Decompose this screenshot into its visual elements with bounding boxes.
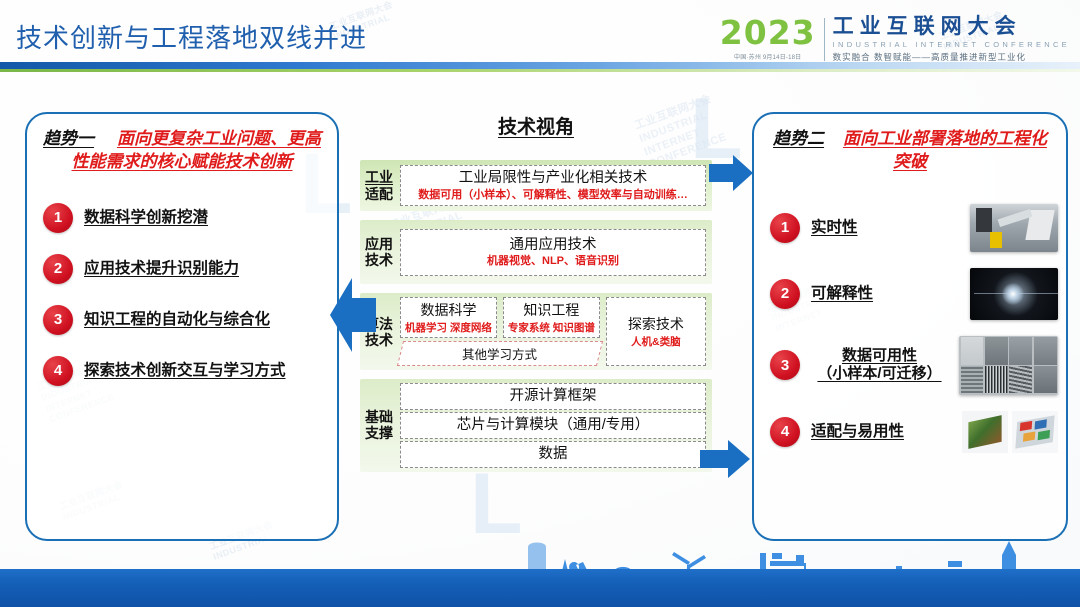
bullet-number: 1	[43, 203, 73, 233]
algorithm-cells: 数据科学 机器学习 深度网络 知识工程 专家系统 知识图谱	[400, 297, 600, 338]
bullet-number: 2	[770, 279, 800, 309]
row-label-line1: 基础	[365, 409, 393, 425]
bullet-text: 探索技术创新交互与学习方式	[84, 361, 286, 380]
row-label-line2: 适配	[365, 186, 393, 202]
row-body-application-tech: 通用应用技术 机器视觉、NLP、语音识别	[398, 220, 712, 284]
skyline-icon	[0, 535, 1080, 607]
bullet-text: 适配与易用性	[811, 422, 951, 441]
stack-row-foundation: 基础 支撑 开源计算框架 芯片与计算模块（通用/专用） 数据	[360, 379, 712, 472]
stack-row-application-tech: 应用 技术 通用应用技术 机器视觉、NLP、语音识别	[360, 220, 712, 284]
logo-divider	[824, 18, 825, 61]
header-rule-green	[0, 69, 1080, 72]
chip-pair-photo	[962, 411, 1058, 453]
trend-one-text: 面向更复杂工业问题、更高性能需求的核心赋能技术创新	[72, 129, 321, 171]
trend-two-list: 1 实时性 2 可解释性 3 数据可用性 （小样本/可迁移） 4 适配与易用性	[754, 200, 1066, 457]
bullet-number: 2	[43, 254, 73, 284]
row-box[interactable]: 工业局限性与产业化相关技术 数据可用（小样本）、可解释性、模型效率与自动训练…	[400, 165, 706, 206]
bullet-text: 实时性	[811, 218, 959, 237]
row-box-title: 工业局限性与产业化相关技术	[405, 169, 701, 188]
bullet-number: 4	[770, 417, 800, 447]
logo-year: 2023	[720, 16, 816, 49]
cell-title: 数据科学	[405, 300, 492, 320]
trend-two-panel: 趋势二 面向工业部署落地的工程化突破 1 实时性 2 可解释性 3 数据可用性 …	[752, 112, 1068, 541]
bullet-number: 3	[43, 305, 73, 335]
cell-detail: 机器学习 深度网络	[405, 320, 492, 335]
arrow-left-icon	[330, 272, 376, 358]
algorithm-cell-data-science[interactable]: 数据科学 机器学习 深度网络	[400, 297, 497, 338]
bullet-number: 3	[770, 350, 800, 380]
trend-one-panel: 趋势一 面向更复杂工业问题、更高性能需求的核心赋能技术创新 1 数据科学创新挖潜…	[25, 112, 339, 541]
foundation-box-framework[interactable]: 开源计算框架	[400, 383, 706, 410]
center-title: 技术视角	[360, 112, 712, 139]
arrow-right-top-icon	[709, 152, 753, 194]
list-item[interactable]: 4 适配与易用性	[754, 407, 1066, 457]
stack-row-algorithm-tech: 算法 技术 数据科学 机器学习 深度网络 知识工程 专家系统 知识图谱	[360, 293, 712, 370]
row-label-line2: 支撑	[365, 425, 393, 441]
list-item[interactable]: 4 探索技术创新交互与学习方式	[27, 349, 337, 393]
algorithm-cell-knowledge-eng[interactable]: 知识工程 专家系统 知识图谱	[503, 297, 600, 338]
dark-explain-photo	[970, 268, 1058, 320]
foundation-text: 数据	[405, 445, 701, 464]
trend-one-list: 1 数据科学创新挖潜 2 应用技术提升识别能力 3 知识工程的自动化与综合化 4…	[27, 196, 337, 393]
row-box-detail: 机器视觉、NLP、语音识别	[405, 254, 701, 268]
cell-detail: 专家系统 知识图谱	[508, 320, 595, 335]
logo-year-block: 2023 中国·苏州 9月14日-18日	[720, 16, 824, 61]
logo-date: 中国·苏州 9月14日-18日	[734, 52, 801, 61]
list-item[interactable]: 2 可解释性	[754, 264, 1066, 332]
technology-stack: 工业 适配 工业局限性与产业化相关技术 数据可用（小样本）、可解释性、模型效率与…	[360, 160, 712, 481]
foundation-text: 芯片与计算模块（通用/专用）	[405, 416, 701, 435]
bottom-band	[0, 569, 1080, 607]
list-item[interactable]: 3 知识工程的自动化与综合化	[27, 298, 337, 349]
row-label-line1: 工业	[365, 169, 393, 185]
bullet-text: 数据可用性 （小样本/可迁移）	[811, 347, 948, 385]
cell-title: 探索技术	[611, 314, 701, 334]
trend-two-label: 趋势二	[773, 129, 824, 148]
algorithm-left-group: 数据科学 机器学习 深度网络 知识工程 专家系统 知识图谱 其他学习方式	[400, 297, 600, 366]
logo-slogan: 数实融合 数智赋能——高质量推进新型工业化	[833, 51, 1070, 63]
row-box[interactable]: 通用应用技术 机器视觉、NLP、语音识别	[400, 229, 706, 276]
row-body-foundation: 开源计算框架 芯片与计算模块（通用/专用） 数据	[398, 379, 712, 472]
logo-name-cn: 工业互联网大会	[833, 16, 1070, 38]
row-label-foundation: 基础 支撑	[360, 379, 398, 472]
arrow-right-bottom-icon	[700, 437, 750, 481]
algorithm-cell-exploratory[interactable]: 探索技术 人机&类脑	[606, 297, 706, 366]
trend-one-heading: 趋势一 面向更复杂工业问题、更高性能需求的核心赋能技术创新	[27, 114, 337, 178]
other-label: 其他学习方式	[462, 344, 537, 363]
cell-detail: 人机&类脑	[611, 334, 701, 349]
row-body-algorithm-tech: 数据科学 机器学习 深度网络 知识工程 专家系统 知识图谱 其他学习方式 探索技…	[398, 293, 712, 370]
bullet-text: 数据科学创新挖潜	[84, 208, 208, 227]
list-item[interactable]: 1 实时性	[754, 200, 1066, 264]
list-item[interactable]: 2 应用技术提升识别能力	[27, 247, 337, 298]
page-title: 技术创新与工程落地双线并进	[16, 18, 367, 55]
robot-arm-photo	[970, 204, 1058, 252]
row-label-line2: 技术	[365, 252, 393, 268]
cell-title: 知识工程	[508, 300, 595, 320]
list-item[interactable]: 3 数据可用性 （小样本/可迁移）	[754, 332, 1066, 407]
foundation-text: 开源计算框架	[405, 387, 701, 406]
stack-row-industry-fit: 工业 适配 工业局限性与产业化相关技术 数据可用（小样本）、可解释性、模型效率与…	[360, 160, 712, 211]
bullet-text: 可解释性	[811, 284, 959, 303]
bullet-number: 1	[770, 213, 800, 243]
bullet-text: 应用技术提升识别能力	[84, 259, 239, 278]
skyline-decoration	[0, 535, 1080, 607]
trend-two-text: 面向工业部署落地的工程化突破	[843, 129, 1047, 171]
row-box-title: 通用应用技术	[405, 236, 701, 255]
row-label-industry-fit: 工业 适配	[360, 160, 398, 211]
slide-root: L L L 工业互联网大会 INDUSTRIAL INTERNET CONFER…	[0, 0, 1080, 607]
list-item[interactable]: 1 数据科学创新挖潜	[27, 196, 337, 247]
row-box-detail: 数据可用（小样本）、可解释性、模型效率与自动训练…	[405, 188, 701, 202]
sample-grid-photo	[959, 336, 1058, 395]
trend-one-label: 趋势一	[43, 129, 94, 148]
trend-two-heading: 趋势二 面向工业部署落地的工程化突破	[754, 114, 1066, 178]
logo-name-block: 工业互联网大会 INDUSTRIAL INTERNET CONFERENCE 数…	[833, 16, 1070, 63]
row-label-line1: 应用	[365, 236, 393, 252]
foundation-box-chip[interactable]: 芯片与计算模块（通用/专用）	[400, 412, 706, 439]
logo-name-en: INDUSTRIAL INTERNET CONFERENCE	[833, 40, 1070, 49]
bullet-text: 知识工程的自动化与综合化	[84, 310, 270, 329]
foundation-box-data[interactable]: 数据	[400, 441, 706, 468]
algorithm-other-learning[interactable]: 其他学习方式	[397, 341, 603, 366]
header-rule-blue	[0, 62, 1080, 69]
bullet-number: 4	[43, 356, 73, 386]
row-body-industry-fit: 工业局限性与产业化相关技术 数据可用（小样本）、可解释性、模型效率与自动训练…	[398, 160, 712, 211]
conference-logo: 2023 中国·苏州 9月14日-18日 工业互联网大会 INDUSTRIAL …	[720, 16, 1070, 63]
